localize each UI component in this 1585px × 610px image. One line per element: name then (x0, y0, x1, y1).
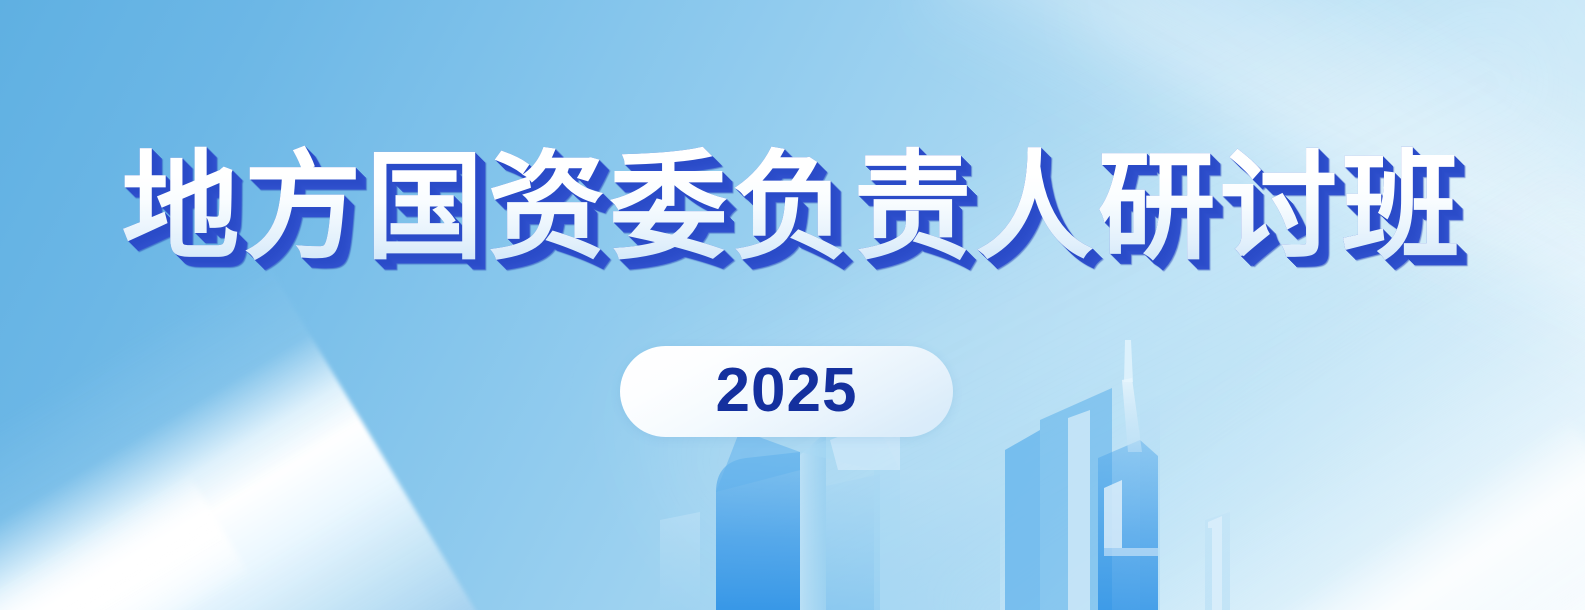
banner-title: 地方国资委负责人研讨班 地方国资委负责人研讨班 (121, 138, 1463, 277)
banner-title-face: 地方国资委负责人研讨班 (121, 138, 1463, 276)
year-badge-label: 2025 (716, 360, 858, 422)
banner-title-wrap: 地方国资委负责人研讨班 地方国资委负责人研讨班 (0, 138, 1585, 277)
banner-root: 地方国资委负责人研讨班 地方国资委负责人研讨班 2025 (0, 0, 1585, 610)
year-badge: 2025 (620, 346, 953, 437)
banner-title-extrude: 地方国资委负责人研讨班 (121, 138, 1463, 277)
